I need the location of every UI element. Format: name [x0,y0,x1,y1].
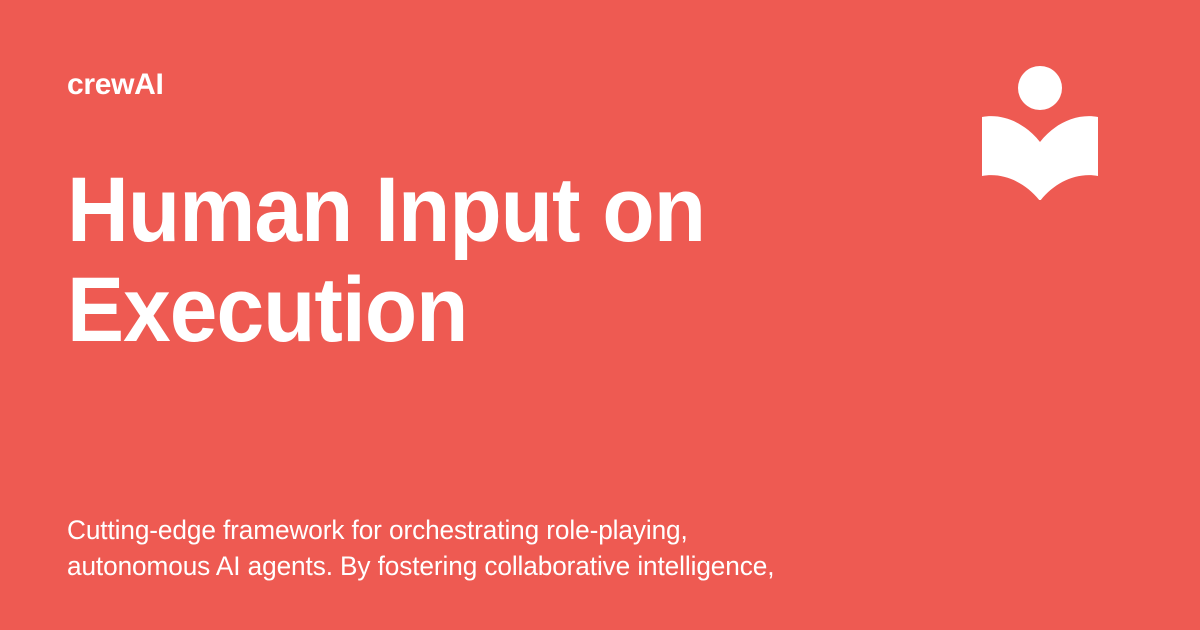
brand-wordmark: crewAI [67,70,164,100]
logo-open-book-shape [982,116,1098,200]
og-card: crewAI Human Input on Execution Cutting-… [0,0,1200,630]
crewai-logo-icon [980,64,1100,200]
logo-head-circle [1018,66,1062,110]
page-description: Cutting-edge framework for orchestrating… [67,512,940,584]
page-description-line-2: autonomous AI agents. By fostering colla… [67,548,940,584]
page-title-line-1: Human Input on [67,159,705,261]
page-description-line-1: Cutting-edge framework for orchestrating… [67,512,940,548]
page-title-line-2: Execution [67,259,468,361]
page-title: Human Input on Execution [67,160,885,360]
